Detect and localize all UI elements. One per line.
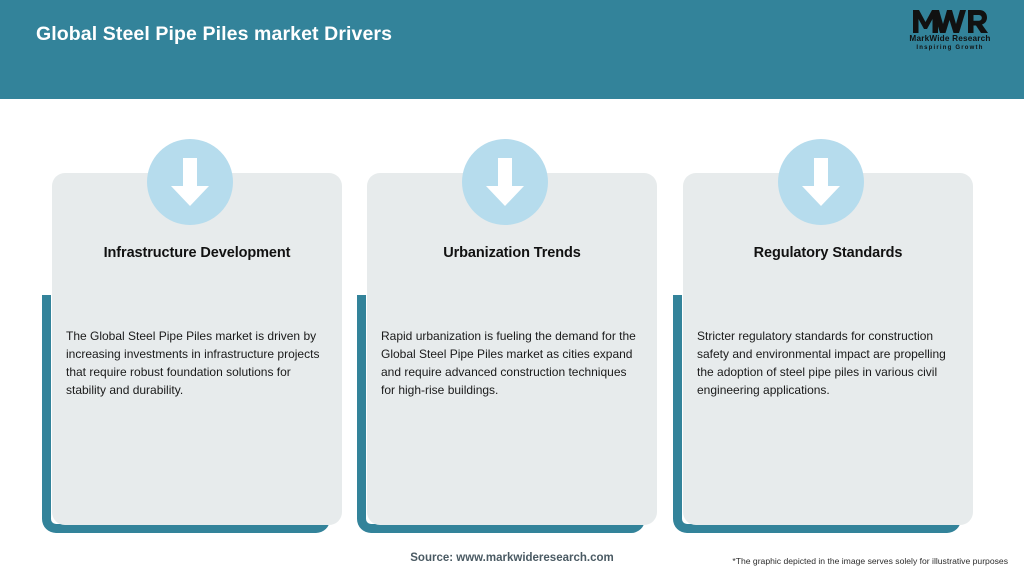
page-title: Global Steel Pipe Piles market Drivers [36,23,392,46]
card-heading: Regulatory Standards [683,245,973,261]
logo: MarkWide Research Inspiring Growth [898,9,1002,55]
down-arrow-icon [462,139,548,225]
down-arrow-icon [147,139,233,225]
driver-card: Regulatory Standards Stricter regulatory… [673,99,973,539]
logo-tagline: Inspiring Growth [898,44,1002,52]
card-frame-left-edge [673,295,682,395]
drivers-card-row: Infrastructure Development The Global St… [0,99,1024,539]
page-header: Global Steel Pipe Piles market Drivers M… [0,0,1024,99]
card-heading: Urbanization Trends [367,245,657,261]
card-heading: Infrastructure Development [52,245,342,261]
card-body-text: Rapid urbanization is fueling the demand… [367,327,657,399]
down-arrow-icon [778,139,864,225]
driver-card: Infrastructure Development The Global St… [42,99,342,539]
driver-card: Urbanization Trends Rapid urbanization i… [357,99,657,539]
card-frame-left-edge [357,295,366,395]
card-body-text: Stricter regulatory standards for constr… [683,327,973,399]
card-frame-left-edge [42,295,51,395]
logo-mwr-icon [898,9,1002,34]
logo-company-name: MarkWide Research [898,34,1002,44]
disclaimer-note: *The graphic depicted in the image serve… [732,556,1008,566]
card-body-text: The Global Steel Pipe Piles market is dr… [52,327,342,399]
